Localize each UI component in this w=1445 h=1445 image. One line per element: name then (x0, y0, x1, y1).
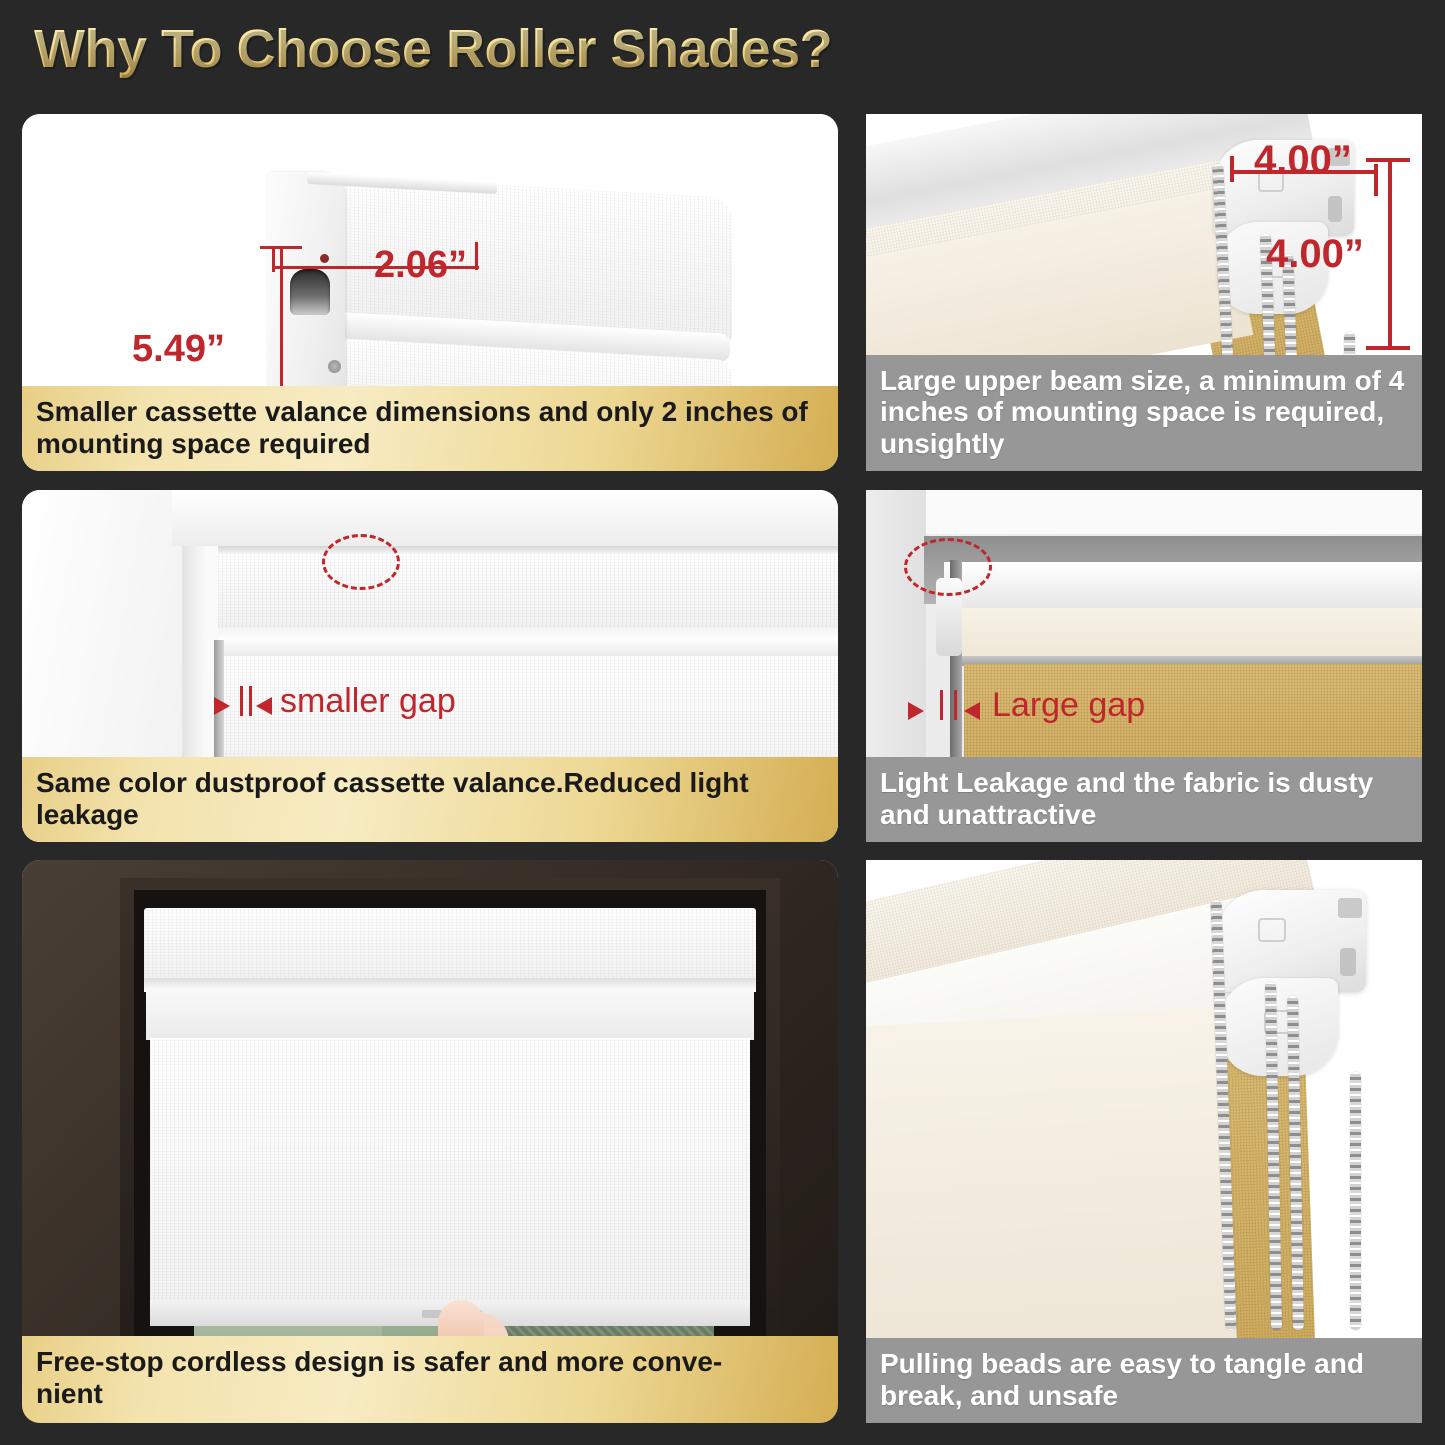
bracket-emblem-upper (1258, 918, 1286, 942)
width-dimension-tick-left (1230, 156, 1234, 182)
gap-callout-label: smaller gap (280, 682, 456, 721)
width-dimension-tick-right (475, 242, 478, 270)
panel-3-dustproof-valance: smaller gap Same color dustproof cassett… (22, 490, 838, 842)
cassette-shadow-gap (218, 638, 838, 658)
panel-6-pulling-beads: Pulling beads are easy to tangle and bre… (866, 860, 1422, 1423)
gap-arrow-left-pointer-icon (964, 702, 980, 720)
panel-2-large-beam: 4.00” 4.00” Large upper beam size, a min… (866, 114, 1422, 471)
shade-fabric (150, 1038, 750, 1326)
bracket-notch-top (1338, 898, 1362, 918)
gap-arrow-right-icon (214, 697, 230, 715)
end-cap-marker-dot (320, 254, 329, 263)
bead-chain-4 (1350, 1072, 1361, 1330)
headrail (144, 908, 756, 986)
end-cap-slot-upper (290, 269, 330, 315)
wall-top (866, 490, 1422, 534)
panel-5-caption: Free-stop cordless design is safer and m… (22, 1336, 838, 1423)
cream-fabric-strip (956, 608, 1422, 660)
cassette-band (218, 554, 838, 632)
panel-5-caption-line-1: Free-stop cordless design is safer and m… (36, 1346, 722, 1377)
highlight-circle-icon (322, 534, 400, 590)
height-dimension-tick-bottom (1366, 346, 1410, 350)
bracket-notch-mid (1340, 948, 1356, 976)
panel-1-caption: Smaller cassette valance dimensions and … (22, 386, 838, 471)
panel-3-caption: Same color dustproof cassette valance.Re… (22, 757, 838, 842)
gap-arrow-right-icon (908, 702, 924, 720)
height-dimension-label: 5.49” (132, 328, 225, 371)
panel-2-caption: Large upper beam size, a minimum of 4 in… (866, 355, 1422, 471)
highlight-circle-icon (904, 538, 992, 596)
valance-white (944, 562, 1422, 610)
gap-tick-left (240, 686, 243, 716)
gap-tick-right (954, 690, 957, 720)
height-dimension-tick-top (1366, 158, 1410, 162)
gap-tick-left (940, 690, 943, 720)
width-dimension-tick-right (1374, 164, 1378, 196)
width-dimension-label: 4.00” (1254, 138, 1352, 183)
panel-4-caption: Light Leakage and the fabric is dusty an… (866, 757, 1422, 842)
panel-4-light-leakage: Large gap Light Leakage and the fabric i… (866, 490, 1422, 842)
end-cap-screw-mid (328, 360, 341, 373)
width-dimension-tick-left (272, 248, 275, 272)
wall-left (866, 490, 926, 790)
width-dimension-label: 2.06” (374, 244, 467, 287)
panel-6-caption: Pulling beads are easy to tangle and bre… (866, 1338, 1422, 1423)
height-dimension-label: 4.00” (1266, 232, 1364, 277)
gap-tick-right (249, 686, 252, 716)
page-title: Why To Choose Roller Shades? (34, 18, 832, 80)
window-frame-top (172, 490, 838, 546)
infographic-root: Why To Choose Roller Shades? 2.06” (0, 0, 1445, 1445)
gap-arrow-left-pointer-icon (256, 697, 272, 715)
cream-fabric (866, 1008, 1237, 1368)
panel-5-caption-line-2: nient (36, 1378, 103, 1409)
headrail-lower (146, 988, 754, 1040)
gap-callout-label: Large gap (992, 686, 1145, 725)
bracket-notch-mid (1328, 196, 1342, 222)
panel-5-cordless-design: Free-stop cordless design is safer and m… (22, 860, 838, 1423)
panel-1-smaller-cassette: 2.06” 5.49” Smaller cassette valance dim… (22, 114, 838, 471)
height-dimension-line (1388, 158, 1392, 350)
height-dimension-tick-top (260, 246, 302, 249)
